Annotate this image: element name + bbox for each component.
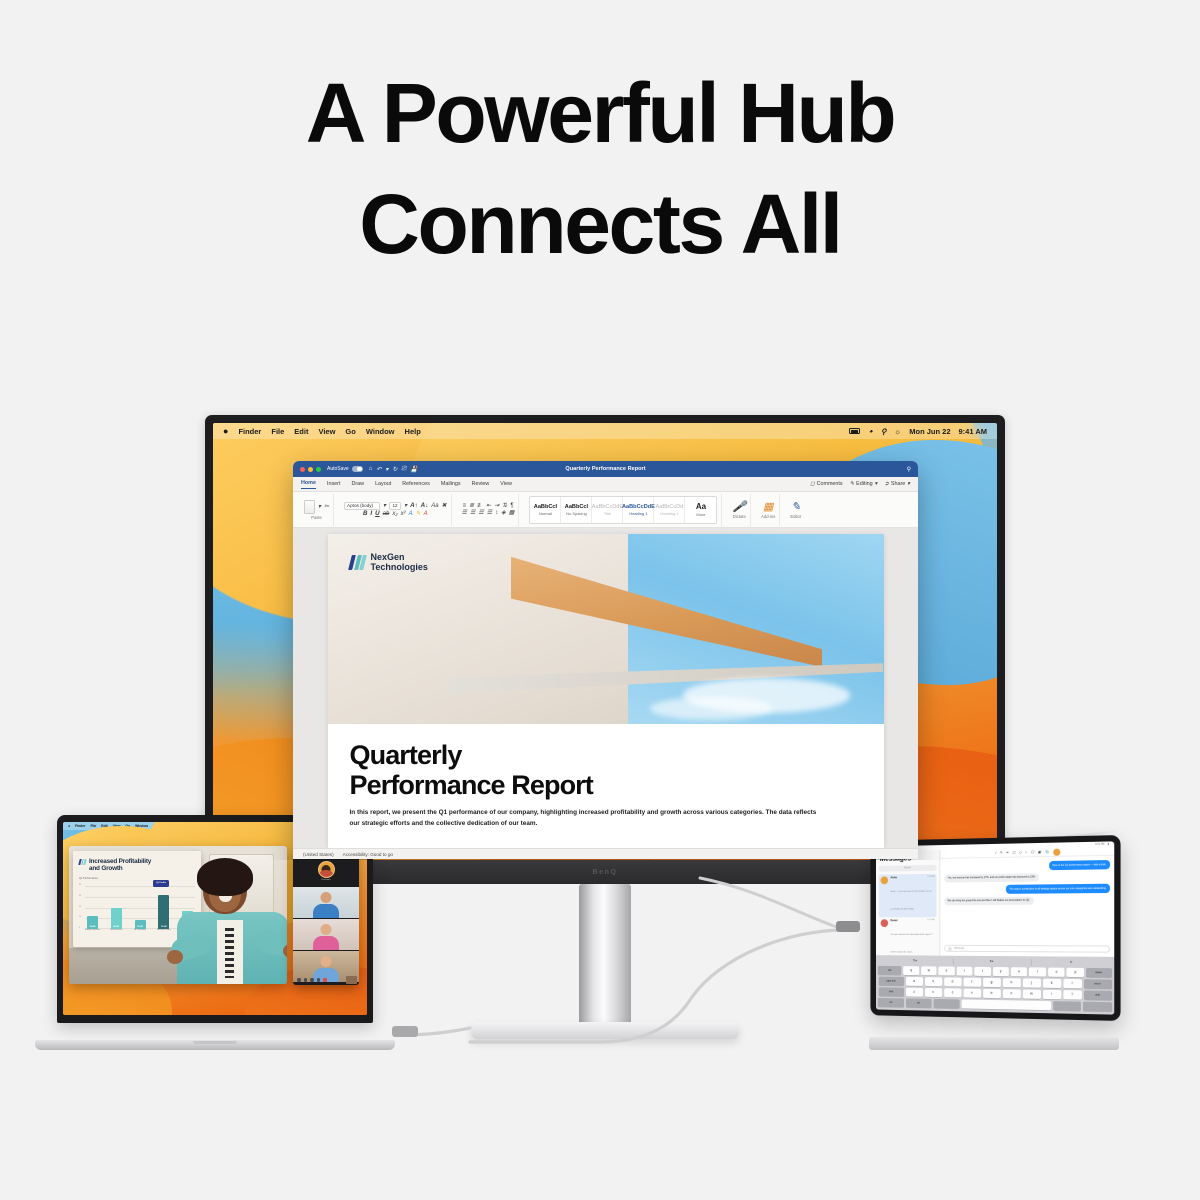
comments-button[interactable]: ◻ Comments: [810, 481, 843, 487]
style-preview: AaBbCcDd: [656, 504, 684, 510]
page-title: A Powerful Hub Connects All: [0, 58, 1200, 280]
key-shift-right[interactable]: shift: [1083, 990, 1111, 1000]
editor-group[interactable]: ✎ Editor: [786, 494, 805, 526]
addins-label: Add-ins: [761, 514, 775, 519]
key-m[interactable]: m: [1022, 989, 1040, 998]
chart-bar-value: 28.4M: [87, 926, 98, 928]
monitor-brand-logo: BenQ: [592, 869, 617, 876]
conversation-name: Daniel: [890, 919, 897, 922]
key-a[interactable]: a: [906, 976, 923, 985]
logo-line-1: NexGen: [371, 552, 428, 562]
self-view-tile[interactable]: [346, 976, 357, 984]
share-screen-icon[interactable]: [310, 978, 314, 982]
message-placeholder: iMessage: [954, 947, 964, 950]
camera-icon[interactable]: ▣: [1038, 850, 1041, 854]
camera-icon[interactable]: [304, 978, 308, 982]
menu-item-window[interactable]: Window: [366, 427, 395, 436]
font-size-input[interactable]: 12: [389, 502, 401, 510]
wifi-icon[interactable]: ☼: [894, 427, 901, 436]
menu-item-help[interactable]: Help: [405, 427, 421, 436]
paragraph-group: ≡ ≣ ≢ ⇤ ⇥ ⇅ ¶ ☰ ☰ ☰ ☰: [458, 494, 520, 526]
conversation-preview: Great — I just sent over the Q1 numbers …: [890, 891, 931, 911]
key-space[interactable]: [961, 999, 1051, 1010]
apple-icon[interactable]: ●: [68, 824, 70, 828]
tab-draw[interactable]: Draw: [351, 481, 364, 487]
style-normal[interactable]: AaBbCcI Normal: [530, 497, 561, 523]
chart-bar-value: 20.3M: [135, 926, 146, 928]
logo-line-2: Technologies: [371, 562, 428, 572]
key-y[interactable]: y: [992, 967, 1008, 976]
microphone-icon[interactable]: 🎤: [732, 500, 746, 513]
avatar[interactable]: [1053, 848, 1060, 855]
paste-button[interactable]: [304, 500, 315, 514]
apple-icon[interactable]: ●: [223, 427, 228, 436]
battery-icon: ▮: [1108, 843, 1109, 846]
key-u[interactable]: u: [1011, 967, 1027, 976]
key-question[interactable]: ?: [1063, 990, 1082, 999]
active-speaker-tile[interactable]: Presenter: [293, 856, 359, 886]
tab-layout[interactable]: Layout: [375, 481, 391, 487]
bluetooth-icon[interactable]: ᛭: [868, 427, 873, 436]
presenter-person: [173, 858, 287, 984]
chart-bar-category: Enterprise Sales: [154, 929, 173, 931]
style-preview: Aa: [696, 502, 706, 511]
font-name-input[interactable]: Aptos (body): [344, 502, 380, 510]
style-no-spacing[interactable]: AaBbCcI No Spacing: [561, 497, 592, 523]
keyboard-suggestions[interactable]: The the to: [878, 958, 1111, 966]
document-title-line-1: Quarterly: [350, 740, 862, 770]
battery-icon[interactable]: [849, 428, 860, 434]
word-title-bar[interactable]: AutoSave ⌂ ↶ ▾ ↻ ⎚ 💾 Quarterly Performan…: [293, 461, 918, 477]
chevron-down-icon[interactable]: ▾: [383, 503, 386, 509]
participant-head: [321, 956, 332, 967]
cable-left: [400, 1028, 470, 1035]
print-icon[interactable]: ⎚: [401, 466, 406, 473]
conversation-name: Aisha: [890, 876, 896, 879]
key-q[interactable]: q: [903, 966, 919, 975]
chart-bar-value: 72.6M: [158, 926, 169, 928]
word-status-bar: (United States) Accessibility: Good to g…: [293, 848, 918, 859]
menu-item-go[interactable]: Go: [345, 427, 355, 436]
word-window[interactable]: AutoSave ⌂ ↶ ▾ ↻ ⎚ 💾 Quarterly Performan…: [293, 461, 918, 859]
participants-icon[interactable]: [317, 978, 321, 982]
key-cmd-left[interactable]: [933, 998, 959, 1007]
increase-indent-icon[interactable]: ⇥: [494, 503, 499, 509]
tablet-body: iPad 9:41 AM ▮ Messages Search Aisha 9:4…: [870, 835, 1120, 1021]
align-right-icon[interactable]: ☰: [478, 510, 483, 516]
paragraph-marks-icon[interactable]: ¶: [510, 503, 513, 509]
bullets-icon[interactable]: ≡: [463, 503, 467, 509]
key-d[interactable]: d: [944, 977, 961, 986]
chevron-down-icon: ▾: [907, 481, 910, 487]
speaker-name: Presenter: [321, 879, 330, 881]
key-o[interactable]: o: [1048, 967, 1065, 976]
underline-button[interactable]: U: [375, 511, 379, 517]
eraser-icon[interactable]: ◻: [1012, 851, 1015, 855]
video-call-panel[interactable]: Presenter: [293, 849, 359, 985]
font-color-icon[interactable]: A: [424, 511, 428, 517]
tab-review[interactable]: Review: [472, 481, 490, 487]
strikethrough-button[interactable]: ab: [383, 511, 390, 517]
key-c[interactable]: c: [944, 988, 961, 997]
style-preview: AaBbCcI: [565, 504, 588, 510]
keyboard-row-1[interactable]: tab q w e r t y u i o p delete: [878, 965, 1111, 977]
messages-app[interactable]: Messages Search Aisha 9:41 AM Great — I …: [876, 847, 1114, 957]
style-more[interactable]: Aa More: [685, 497, 716, 523]
comment-icon: ◻: [810, 481, 814, 487]
style-heading-2[interactable]: AaBbCcDd Heading 2: [654, 497, 685, 523]
style-heading-1[interactable]: AaBbCcDdE Heading 1: [623, 497, 654, 523]
headline-line-1: A Powerful Hub: [0, 58, 1200, 169]
monitor-stand-neck: [579, 884, 631, 1027]
editor-icon[interactable]: ✎: [791, 500, 800, 513]
suggestion-2[interactable]: the: [953, 958, 1031, 965]
addins-icon[interactable]: ▦: [763, 500, 773, 513]
style-preview: AaBbCcDdE: [622, 504, 655, 510]
keyboard-row-4[interactable]: ctrl alt: [878, 997, 1111, 1011]
message-bubble-incoming: We can bring the group this now and then…: [944, 896, 1033, 905]
share-icon: ➲: [884, 481, 889, 487]
key-f[interactable]: f: [963, 977, 981, 986]
person-hair: [197, 858, 253, 896]
close-icon[interactable]: [300, 467, 305, 472]
style-name: Heading 2: [660, 511, 678, 516]
editor-label: Editor: [790, 514, 801, 519]
usb-c-connector-right: [836, 921, 860, 932]
key-cmd-right[interactable]: [1053, 1001, 1081, 1011]
tab-insert[interactable]: Insert: [327, 481, 340, 487]
external-monitor: ● Finder File Edit View Go Window Help ᛭…: [205, 415, 1005, 860]
chart-bar: 72.6M Enterprise Sales: [158, 895, 169, 929]
monitor-stand-base: [471, 1022, 739, 1039]
italic-icon[interactable]: 𝑖: [995, 851, 996, 855]
decrease-indent-icon[interactable]: ⇤: [486, 503, 491, 509]
tablet-stand: [869, 1037, 1119, 1050]
key-k[interactable]: k: [1043, 978, 1061, 987]
menu-item-finder[interactable]: Finder: [75, 824, 85, 828]
search-icon[interactable]: ⚲: [907, 466, 911, 473]
key-j[interactable]: j: [1022, 978, 1040, 987]
undo-icon[interactable]: ↶: [376, 466, 381, 473]
style-name: Normal: [539, 511, 552, 516]
suggestion-3[interactable]: to: [1031, 959, 1111, 966]
usb-c-connector-left: [392, 1026, 418, 1037]
dictate-label: Dictate: [733, 514, 746, 519]
chart-y-axis: 806040200: [79, 884, 81, 929]
key-i[interactable]: i: [1029, 967, 1046, 976]
chart-bar-value: 44.1M: [111, 926, 122, 928]
message-list: Here is the Q1 performance report — take…: [940, 856, 1114, 946]
pencil-icon[interactable]: ✎: [999, 851, 1002, 855]
tab-references[interactable]: References: [402, 481, 430, 487]
end-call-icon[interactable]: [323, 978, 327, 982]
attach-icon[interactable]: 📎: [1045, 850, 1050, 854]
chevron-down-icon: ▾: [875, 481, 878, 487]
participant-head: [321, 892, 332, 903]
cable-right-upper: [700, 878, 845, 930]
comments-label: Comments: [817, 481, 843, 487]
style-name: Title: [604, 511, 611, 516]
home-icon[interactable]: ⌂: [369, 466, 373, 472]
shading-icon[interactable]: ◈: [501, 510, 506, 516]
line-spacing-icon[interactable]: ↕: [495, 510, 498, 516]
key-w[interactable]: w: [921, 966, 937, 975]
onscreen-keyboard[interactable]: The the to tab q w e r t y u i o p delet…: [876, 955, 1114, 1014]
suggestion-1[interactable]: The: [878, 958, 953, 965]
bold-button[interactable]: B: [363, 511, 367, 517]
key-delete[interactable]: delete: [1086, 967, 1112, 977]
menu-item-edit[interactable]: Edit: [294, 427, 308, 436]
monitor-bezel: ● Finder File Edit View Go Window Help ᛭…: [205, 415, 1005, 860]
editing-button[interactable]: ✎ Editing ▾: [850, 481, 878, 487]
style-name: More: [696, 512, 705, 517]
key-exclamation[interactable]: !: [1043, 989, 1061, 998]
monitor-screen: ● Finder File Edit View Go Window Help ᛭…: [213, 423, 997, 860]
logo-mark-icon: [348, 555, 367, 570]
key-g[interactable]: g: [983, 977, 1001, 986]
key-h[interactable]: h: [1002, 978, 1020, 987]
square-icon[interactable]: ☐: [1031, 850, 1034, 854]
menu-item-file[interactable]: File: [271, 427, 284, 436]
word-ribbon-tabs[interactable]: Home Insert Draw Layout References Maili…: [293, 477, 918, 492]
video-feed[interactable]: Increased Profitability and Growth Q1 Pe…: [69, 846, 287, 984]
key-t[interactable]: t: [974, 966, 990, 975]
style-name: Heading 1: [629, 511, 647, 516]
paste-label: Paste: [311, 515, 322, 520]
company-logo: NexGen Technologies: [350, 552, 428, 572]
autosave-switch-icon[interactable]: [352, 466, 363, 472]
message-bubble-outgoing: Here is the Q1 performance report — take…: [1049, 860, 1110, 870]
align-left-icon[interactable]: ☰: [462, 510, 467, 516]
italic-button[interactable]: I: [370, 511, 372, 517]
style-name: No Spacing: [566, 511, 587, 516]
redo-icon[interactable]: ↻: [392, 466, 397, 473]
slide-title: Increased Profitability and Growth: [89, 858, 151, 872]
share-label: Share: [891, 481, 905, 487]
key-alt[interactable]: alt: [906, 998, 932, 1007]
logo-mark-icon: [78, 859, 86, 865]
laptop-notch: [187, 815, 243, 821]
key-caps-lock[interactable]: caps lock: [878, 976, 903, 985]
laptop-base-notch: [193, 1041, 237, 1044]
slide-title-line-1: Increased Profitability: [89, 858, 151, 865]
list-item[interactable]: Aisha 9:41 AM Great — I just sent over t…: [879, 873, 937, 917]
tab-mailings[interactable]: Mailings: [441, 481, 461, 487]
key-l[interactable]: l: [1063, 978, 1082, 987]
key-emoji[interactable]: [1083, 1001, 1111, 1011]
key-v[interactable]: v: [963, 988, 981, 997]
search-icon[interactable]: ⚲: [881, 427, 887, 436]
key-s[interactable]: s: [925, 977, 942, 986]
chart-bar-category: AI Consulting: [131, 929, 150, 931]
pencil-icon: ✎: [850, 481, 855, 487]
mic-icon[interactable]: [297, 978, 301, 982]
avatar: [881, 876, 888, 884]
menu-item-view[interactable]: View: [318, 427, 335, 436]
grow-font-icon[interactable]: A↑: [410, 503, 418, 509]
key-z[interactable]: z: [906, 987, 923, 996]
key-tab[interactable]: tab: [878, 965, 901, 974]
menu-item-finder[interactable]: Finder: [238, 427, 261, 436]
participant-head: [321, 924, 332, 935]
font-group: Aptos (body) ▾ 12 ▾ A↑ A↓ Aa ✖ B I: [340, 494, 452, 526]
sort-icon[interactable]: ⇅: [502, 503, 507, 509]
styles-gallery[interactable]: AaBbCcI Normal AaBbCcI No Spacing AaBbCc…: [529, 496, 717, 524]
language-status[interactable]: (United States): [303, 852, 334, 857]
chevron-down-icon[interactable]: ▾: [404, 503, 407, 509]
chart-bar-category: Software Revenue: [83, 929, 102, 931]
tablet: iPad 9:41 AM ▮ Messages Search Aisha 9:4…: [865, 838, 1130, 1050]
document-paragraph: In this report, we present the Q1 perfor…: [350, 808, 820, 829]
dictate-group[interactable]: 🎤 Dictate: [728, 494, 751, 526]
person-tie: [225, 928, 234, 978]
person-hand-left: [167, 950, 183, 964]
circle-icon[interactable]: ○: [1025, 850, 1027, 854]
participant-tile[interactable]: [293, 919, 359, 950]
subscript-button[interactable]: x₂: [392, 511, 397, 517]
marker-icon[interactable]: ✒: [1006, 851, 1009, 855]
clear-formatting-icon[interactable]: ✖: [442, 503, 447, 509]
key-r[interactable]: r: [956, 966, 972, 975]
minimize-icon[interactable]: [308, 467, 313, 472]
document-page[interactable]: NexGen Technologies Quarterly Performanc…: [328, 534, 884, 848]
participant-tile[interactable]: [293, 887, 359, 918]
conversation-sidebar[interactable]: Messages Search Aisha 9:41 AM Great — I …: [876, 850, 940, 956]
participant-body: [313, 936, 339, 950]
accessibility-status[interactable]: Accessibility: Good to go: [343, 852, 393, 857]
change-case-icon[interactable]: Aa: [431, 503, 438, 509]
message-thread[interactable]: 𝑕 𝑖 ✎ ✒ ◻ ◇ ○ ☐ ▣ 📎 Here is the Q1 perfo…: [940, 847, 1114, 957]
menu-bar-time: 9:41 AM: [959, 427, 987, 436]
plus-icon[interactable]: [948, 946, 952, 950]
document-hero-image: NexGen Technologies: [328, 534, 884, 724]
key-p[interactable]: p: [1067, 967, 1084, 976]
message-bubble-outgoing: The team's contribution to all strategy …: [1006, 884, 1110, 894]
multilevel-list-icon[interactable]: ≢: [477, 503, 483, 509]
chart-bar: 28.4M Software Revenue: [87, 916, 98, 929]
numbering-icon[interactable]: ≣: [469, 503, 474, 509]
superscript-button[interactable]: x²: [401, 511, 406, 517]
editing-label: Editing: [856, 481, 872, 487]
borders-icon[interactable]: ▦: [509, 510, 515, 516]
participant-body: [313, 904, 339, 918]
avatar: [318, 861, 335, 878]
headline-line-2: Connects All: [0, 169, 1200, 280]
style-preview: AaBbCcDdE: [592, 504, 623, 510]
conversation-time: 9:41 AM: [927, 876, 934, 879]
addins-group[interactable]: ▦ Add-ins: [757, 494, 780, 526]
chart-bar: 44.1M Cloud Services: [111, 908, 122, 930]
document-title-line-2: Performance Report: [350, 770, 862, 800]
list-item[interactable]: Daniel 9:12 AM Can you send me the lates…: [879, 917, 937, 960]
chart-bar-category: Cloud Services: [107, 929, 126, 931]
key-n[interactable]: n: [1002, 989, 1020, 998]
window-controls[interactable]: [300, 467, 321, 472]
menu-bar-date: Mon Jun 22: [909, 427, 950, 436]
key-shift-left[interactable]: shift: [878, 987, 903, 996]
maximize-icon[interactable]: [316, 467, 321, 472]
style-preview: AaBbCcI: [534, 504, 557, 510]
status-time: 9:41 AM: [1095, 843, 1104, 846]
key-x[interactable]: x: [925, 987, 942, 996]
key-ctrl[interactable]: ctrl: [878, 997, 903, 1006]
message-bubble-incoming: Yes, net revenue has increased by 17%, a…: [944, 873, 1039, 883]
justify-icon[interactable]: ☰: [487, 510, 492, 516]
avatar: [881, 919, 888, 927]
tab-view[interactable]: View: [500, 481, 512, 487]
highlight-icon[interactable]: ✎: [416, 511, 421, 517]
chart-bar: 20.3M AI Consulting: [135, 920, 146, 929]
key-return[interactable]: return: [1083, 979, 1111, 989]
mac-menu-bar[interactable]: ● Finder File Edit View Go Window Help ᛭…: [213, 423, 997, 439]
search-input[interactable]: Search: [879, 865, 937, 871]
share-button[interactable]: ➲ Share ▾: [884, 481, 910, 487]
call-controls[interactable]: [293, 975, 359, 985]
document-canvas[interactable]: NexGen Technologies Quarterly Performanc…: [293, 528, 918, 848]
quick-access-toolbar[interactable]: ⌂ ↶ ▾ ↻ ⎚ 💾: [369, 466, 418, 473]
logo-text: NexGen Technologies: [371, 552, 428, 572]
save-icon[interactable]: 💾: [410, 466, 417, 473]
document-body[interactable]: Quarterly Performance Report In this rep…: [328, 724, 884, 829]
conversation-time: 9:12 AM: [927, 919, 934, 922]
style-title[interactable]: AaBbCcDdE Title: [592, 497, 623, 523]
tab-home[interactable]: Home: [301, 480, 316, 489]
shapes-icon[interactable]: ◇: [1019, 850, 1022, 854]
key-e[interactable]: e: [938, 966, 954, 975]
align-center-icon[interactable]: ☰: [470, 510, 475, 516]
autosave-toggle[interactable]: AutoSave: [327, 466, 363, 472]
conversation-preview: Can you send me the latest build of the …: [890, 934, 932, 954]
slide-title-line-2: and Growth: [89, 865, 151, 872]
shrink-font-icon[interactable]: A↓: [421, 503, 429, 509]
clipboard-group: ▾ ✂ Paste: [300, 494, 334, 526]
word-ribbon[interactable]: ▾ ✂ Paste Aptos (body) ▾ 12 ▾ A↑ A↓: [293, 492, 918, 528]
styles-group: AaBbCcI Normal AaBbCcI No Spacing AaBbCc…: [525, 494, 722, 526]
cut-icon[interactable]: ✂: [324, 504, 329, 510]
key-b[interactable]: b: [983, 988, 1001, 997]
chevron-down-icon[interactable]: ▾: [318, 504, 321, 510]
text-effects-icon[interactable]: A: [409, 511, 413, 517]
autosave-label: AutoSave: [327, 466, 349, 472]
message-input[interactable]: iMessage: [944, 945, 1110, 953]
tablet-screen[interactable]: iPad 9:41 AM ▮ Messages Search Aisha 9:4…: [876, 841, 1114, 1014]
chevron-down-icon[interactable]: ▾: [385, 466, 388, 473]
